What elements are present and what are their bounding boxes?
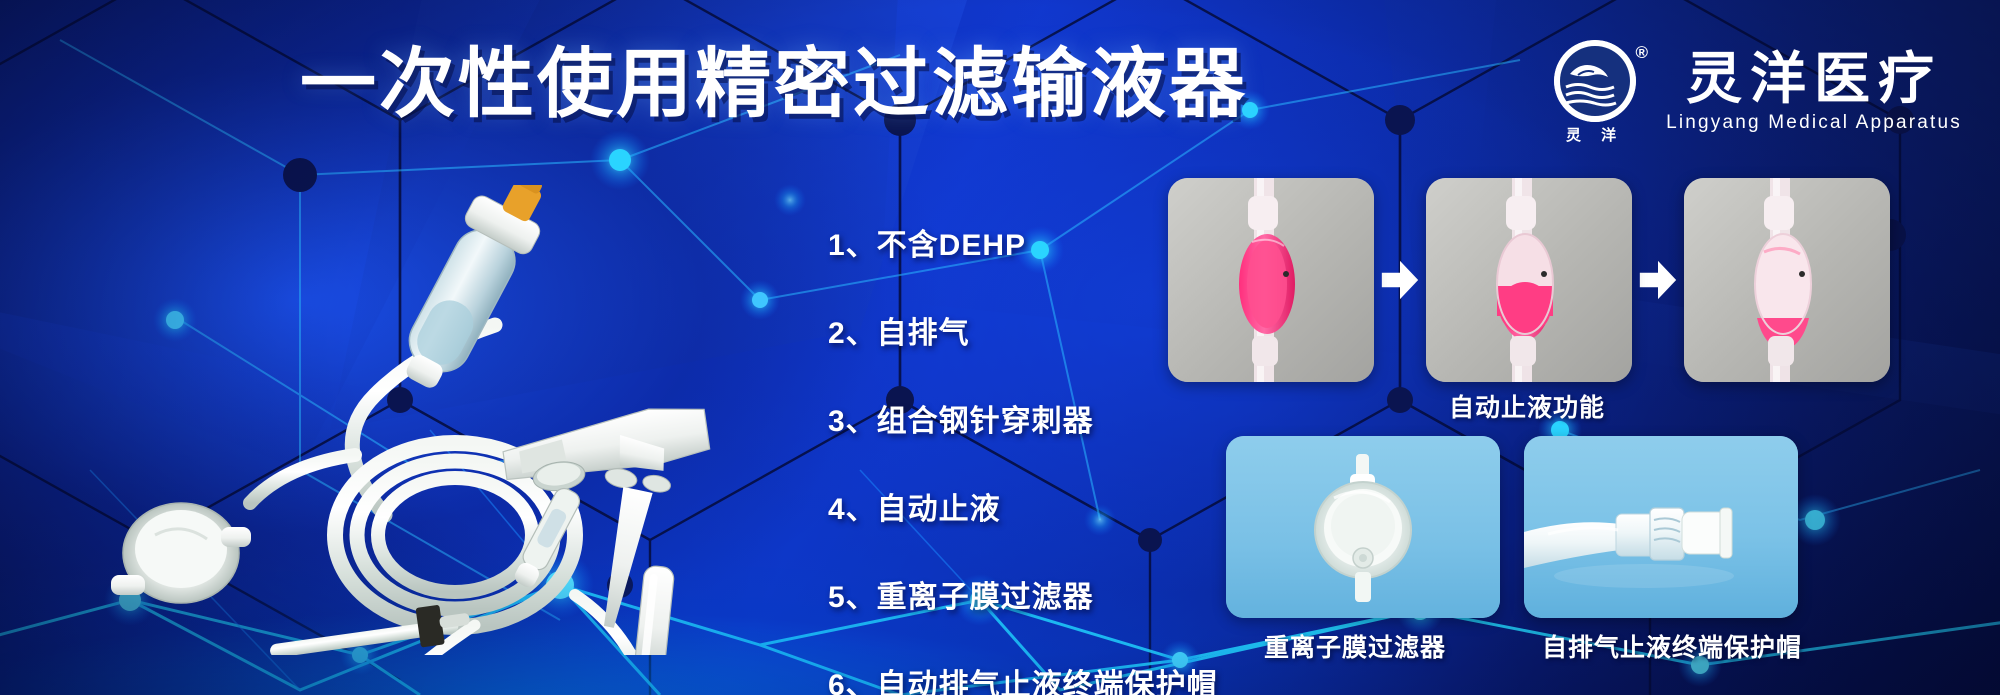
feature-item-5: 5、重离子膜过滤器 <box>828 572 1218 616</box>
logo-emblem: ® 灵 洋 <box>1554 40 1646 144</box>
feature-item-3: 3、组合钢针穿刺器 <box>828 396 1218 440</box>
feature-list: 1、不含DEHP 2、自排气 3、组合钢针穿刺器 4、自动止液 5、重离子膜过滤… <box>828 220 1218 695</box>
registered-mark: ® <box>1636 44 1649 61</box>
feature-item-1: 1、不含DEHP <box>828 220 1218 264</box>
arrow-1-icon <box>1374 252 1426 308</box>
panel-protective-cap-caption: 自排气止液终端保护帽 <box>1542 628 1802 664</box>
panel-protective-cap <box>1524 436 1798 618</box>
demo-frame-3 <box>1684 178 1890 382</box>
logo-name-en: Lingyang Medical Apparatus <box>1666 112 1962 134</box>
logo-mark-text: 灵 洋 <box>1554 124 1636 145</box>
product-banner: 一次性使用精密过滤输液器 ® 灵 洋 灵洋医疗 Lingyang Medical… <box>0 0 2000 695</box>
feature-item-6: 6、自动排气止液终端保护帽 <box>828 660 1218 695</box>
demo-strip-caption: 自动止液功能 <box>1449 388 1605 424</box>
logo-wordmark: 灵洋医疗 Lingyang Medical Apparatus <box>1666 50 1962 135</box>
logo-circle-icon <box>1554 40 1636 122</box>
wave-bird-icon <box>1554 40 1636 122</box>
product-photo <box>55 185 815 655</box>
terminal-protective-cap-photo <box>1524 436 1798 618</box>
drip-chamber-photo-3 <box>1684 178 1890 382</box>
right-arrow-glyph <box>1380 259 1420 301</box>
feature-item-4: 4、自动止液 <box>828 484 1218 528</box>
demo-frame-2 <box>1426 178 1632 382</box>
ion-membrane-filter-photo <box>1226 436 1500 618</box>
drip-chamber-photo-2 <box>1426 178 1632 382</box>
right-arrow-glyph <box>1638 259 1678 301</box>
panel-filter <box>1226 436 1500 618</box>
panel-filter-caption: 重离子膜过滤器 <box>1264 628 1446 664</box>
arrow-2-icon <box>1632 252 1684 308</box>
banner-title: 一次性使用精密过滤输液器 <box>300 45 1248 125</box>
brand-logo: ® 灵 洋 灵洋医疗 Lingyang Medical Apparatus <box>1554 40 1962 144</box>
auto-stop-demo-strip <box>1168 178 1890 382</box>
infusion-set-illustration <box>55 185 815 655</box>
feature-item-2: 2、自排气 <box>828 308 1218 352</box>
logo-name-cn: 灵洋医疗 <box>1686 50 1942 109</box>
